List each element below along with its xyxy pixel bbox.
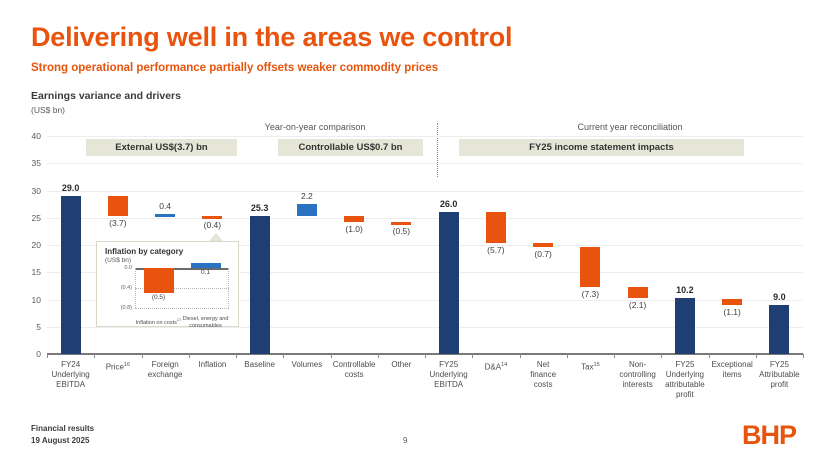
y-axis-tick: 40 — [32, 131, 41, 141]
bar-value-label: (0.4) — [204, 220, 221, 230]
inset-category-label: Diesel, energy andconsumables — [177, 316, 234, 330]
x-axis-tick — [803, 354, 804, 358]
bar-fy25-attributable-profit[interactable] — [769, 305, 789, 354]
x-axis-tick — [94, 354, 95, 358]
bar-tax[interactable] — [580, 247, 600, 287]
bar-foreign-exchange[interactable] — [155, 214, 175, 217]
x-axis-tick — [331, 354, 332, 358]
x-axis-tick — [283, 354, 284, 358]
x-axis-tick — [142, 354, 143, 358]
bar-value-label: 9.0 — [773, 292, 786, 302]
slide: Delivering well in the areas we control … — [0, 0, 820, 461]
y-axis-tick: 35 — [32, 158, 41, 168]
section-caption-year-on-year: Year-on-year comparison — [205, 122, 425, 132]
x-axis-tick — [709, 354, 710, 358]
y-axis-tick: 0 — [36, 349, 41, 359]
chart-units-label: (US$ bn) — [31, 105, 65, 115]
bar-d-a[interactable] — [486, 212, 506, 243]
y-axis-tick: 30 — [32, 186, 41, 196]
inset-y-tick: 0.0 — [124, 265, 132, 271]
inset-title: Inflation by category — [105, 247, 183, 256]
y-axis-tick: 15 — [32, 267, 41, 277]
page-number: 9 — [403, 436, 407, 445]
gridline — [47, 218, 803, 219]
inset-border-dash — [135, 268, 136, 308]
x-axis-tick — [520, 354, 521, 358]
page-subtitle: Strong operational performance partially… — [31, 62, 438, 74]
gridline — [47, 163, 803, 164]
x-axis-tick — [614, 354, 615, 358]
bar-non-controlling-interests[interactable] — [628, 287, 648, 298]
footer-date: 19 August 2025 — [31, 436, 89, 445]
x-axis-tick — [378, 354, 379, 358]
bar-other[interactable] — [391, 222, 411, 225]
bar-value-label: (7.3) — [582, 289, 599, 299]
y-axis-tick: 20 — [32, 240, 41, 250]
bar-value-label: 10.2 — [676, 285, 694, 295]
inset-border-dash — [228, 268, 229, 308]
inset-gridline — [135, 308, 229, 309]
gridline — [47, 136, 803, 137]
footer-title: Financial results — [31, 424, 94, 433]
bar-exceptional-items[interactable] — [722, 299, 742, 305]
bar-fy25-underlying-attributable-profit[interactable] — [675, 298, 695, 354]
bar-inflation[interactable] — [202, 216, 222, 219]
x-axis-tick — [189, 354, 190, 358]
bar-fy24-underlying-ebitda[interactable] — [61, 196, 81, 354]
inset-units-label: (US$ bn) — [105, 257, 131, 264]
x-axis-tick — [661, 354, 662, 358]
inset-bar-value: (0.5) — [152, 294, 165, 301]
inset-plot-area: 0.0(0.4)(0.8)(0.5)Inflation on costs170.… — [135, 268, 229, 308]
inset-y-tick: (0.4) — [121, 285, 132, 291]
bar-value-label: 26.0 — [440, 199, 458, 209]
x-axis-tick — [567, 354, 568, 358]
y-axis-tick: 25 — [32, 213, 41, 223]
bar-value-label: (0.5) — [393, 226, 410, 236]
bar-value-label: 0.4 — [159, 201, 171, 211]
inset-bar-inflation-on-costs[interactable] — [144, 268, 174, 293]
bar-value-label: 25.3 — [251, 203, 269, 213]
x-axis-tick — [47, 354, 48, 358]
bar-value-label: (1.1) — [723, 307, 740, 317]
x-axis-tick — [472, 354, 473, 358]
x-axis-label-fy25-attributable-profit: FY25Attributableprofit — [744, 360, 815, 390]
bhp-logo: BHP — [742, 420, 796, 451]
bar-value-label: (1.0) — [345, 224, 362, 234]
bar-value-label: 29.0 — [62, 183, 80, 193]
inset-bar-value: 0.1 — [201, 269, 210, 276]
chart-title: Earnings variance and drivers — [31, 90, 181, 102]
bar-controllable-costs[interactable] — [344, 216, 364, 221]
inflation-inset-chart: Inflation by category (US$ bn) 0.0(0.4)(… — [96, 241, 239, 327]
bar-baseline[interactable] — [250, 216, 270, 354]
inset-y-tick: (0.8) — [121, 305, 132, 311]
section-caption-current-year: Current year reconciliation — [500, 122, 760, 132]
inset-pointer — [209, 233, 223, 241]
bar-net-finance-costs[interactable] — [533, 243, 553, 247]
y-axis-tick: 5 — [36, 322, 41, 332]
bar-fy25-underlying-ebitda[interactable] — [439, 212, 459, 354]
bar-price[interactable] — [108, 196, 128, 216]
inset-bar-diesel-energy-and-consumables[interactable] — [191, 263, 221, 268]
gridline — [47, 191, 803, 192]
bar-value-label: (2.1) — [629, 300, 646, 310]
page-title: Delivering well in the areas we control — [31, 22, 512, 53]
x-axis-tick — [236, 354, 237, 358]
bar-value-label: 2.2 — [301, 191, 313, 201]
x-axis-tick — [425, 354, 426, 358]
bar-volumes[interactable] — [297, 204, 317, 216]
y-axis-tick: 10 — [32, 295, 41, 305]
bar-value-label: (0.7) — [534, 249, 551, 259]
x-axis-tick — [756, 354, 757, 358]
bar-value-label: (3.7) — [109, 218, 126, 228]
bar-value-label: (5.7) — [487, 245, 504, 255]
